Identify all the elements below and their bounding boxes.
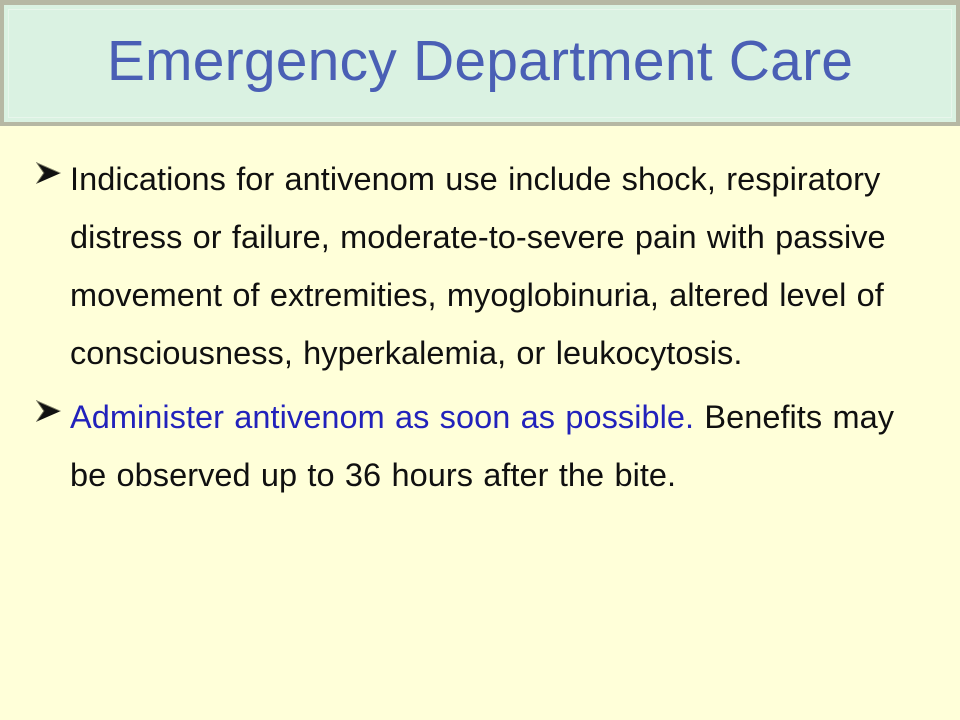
arrowhead-right-icon [36, 150, 66, 196]
slide-title-block: Emergency Department Care [0, 0, 960, 126]
list-item-text: Administer antivenom as soon as possible… [70, 388, 912, 504]
list-item-text-highlighted: Administer antivenom as soon as possible… [70, 399, 694, 435]
slide-body: Indications for antivenom use include sh… [0, 126, 960, 720]
slide: Emergency Department Care Indications fo… [0, 0, 960, 720]
list-item: Indications for antivenom use include sh… [0, 150, 960, 382]
list-item-text: Indications for antivenom use include sh… [70, 150, 912, 382]
list-item: Administer antivenom as soon as possible… [0, 388, 960, 504]
page-title: Emergency Department Care [107, 32, 853, 96]
arrowhead-right-icon [36, 388, 66, 434]
